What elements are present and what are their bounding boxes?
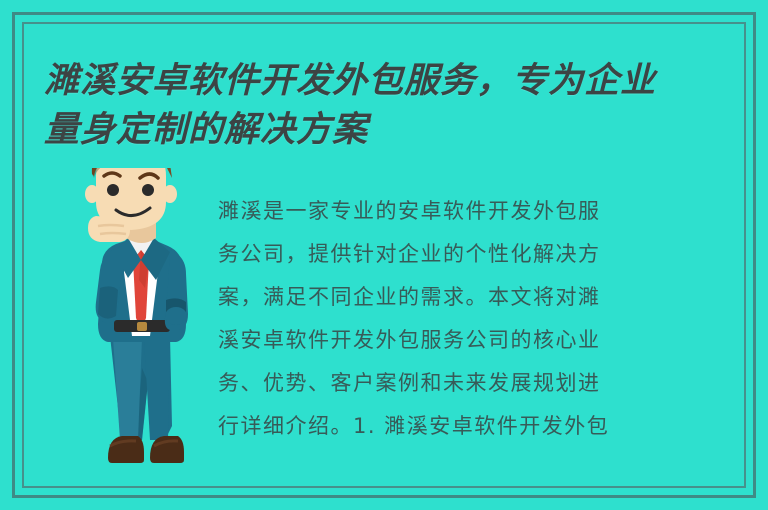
body-line-4: 溪安卓软件开发外包服务公司的核心业 — [218, 319, 764, 362]
finger-line-1 — [98, 225, 124, 226]
body-line-2: 务公司，提供针对企业的个性化解决方 — [218, 233, 764, 276]
hand-at-chin — [88, 216, 130, 242]
body-line-5: 务、优势、客户案例和未来发展规划进 — [218, 362, 764, 405]
sleeve-left-shade — [98, 286, 118, 318]
article-banner: 濉溪安卓软件开发外包服务，专为企业 量身定制的解决方案 — [0, 0, 768, 510]
banner-title: 濉溪安卓软件开发外包服务，专为企业 量身定制的解决方案 — [44, 56, 734, 154]
leg-left — [113, 338, 142, 440]
body-line-1: 濉溪是一家专业的安卓软件开发外包服 — [218, 190, 764, 233]
body-line-6: 行详细介绍。1. 濉溪安卓软件开发外包 — [218, 405, 764, 448]
banner-content: 濉溪是一家专业的安卓软件开发外包服 务公司，提供针对企业的个性化解决方 案，满足… — [40, 168, 728, 488]
body-line-3: 案，满足不同企业的需求。本文将对濉 — [218, 276, 764, 319]
banner-body-text: 濉溪是一家专业的安卓软件开发外包服 务公司，提供针对企业的个性化解决方 案，满足… — [218, 190, 764, 448]
hand-right-in-pocket — [165, 307, 187, 325]
eye-left — [107, 184, 119, 196]
businessman-thinking-illustration — [58, 168, 218, 478]
belt-buckle — [137, 322, 147, 331]
leg-right — [144, 338, 170, 440]
finger-line-2 — [100, 233, 126, 234]
title-line-2: 量身定制的解决方案 — [44, 105, 734, 154]
title-line-1: 濉溪安卓软件开发外包服务，专为企业 — [44, 56, 734, 105]
eye-right — [142, 184, 154, 196]
